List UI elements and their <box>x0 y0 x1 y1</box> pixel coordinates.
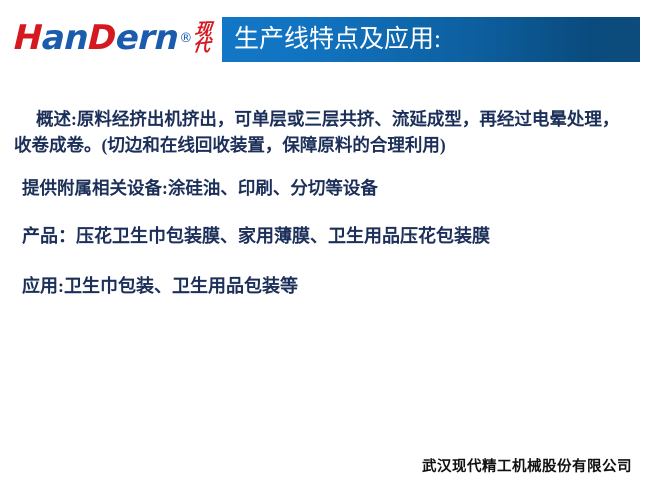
wordmark-part-ern: ern <box>115 18 179 58</box>
brand-chinese-name: 现代 <box>193 22 213 53</box>
paragraph-products: 产品：压花卫生巾包装膜、家用薄膜、卫生用品压花包装膜 <box>0 223 648 249</box>
brand-logo: HanDern®现代 <box>14 14 211 62</box>
paragraph-application: 应用:卫生巾包装、卫生用品包装等 <box>0 273 648 299</box>
slide-footer: 武汉现代精工机械股份有限公司 <box>0 455 648 476</box>
brand-chinese-bottom: 代 <box>193 38 212 54</box>
slide-header: HanDern®现代 生产线特点及应用: <box>0 0 648 78</box>
registered-trademark-icon: ® <box>179 32 192 45</box>
slide-title-bar: 生产线特点及应用: <box>222 17 640 62</box>
footer-company-name: 武汉现代精工机械股份有限公司 <box>422 459 632 475</box>
wordmark-part-h: H <box>13 18 42 58</box>
wordmark-part-an: an <box>41 18 89 58</box>
slide-body: 概述:原料经挤出机挤出，可单层或三层共挤、流延成型，再经过电晕处理，收卷成卷。(… <box>0 88 648 317</box>
brand-wordmark: HanDern <box>13 21 179 55</box>
paragraph-equipment: 提供附属相关设备:涂硅油、印刷、分切等设备 <box>0 175 648 201</box>
page-title: 生产线特点及应用: <box>222 27 441 52</box>
paragraph-overview: 概述:原料经挤出机挤出，可单层或三层共挤、流延成型，再经过电晕处理，收卷成卷。(… <box>0 106 648 158</box>
wordmark-part-d: D <box>87 18 116 58</box>
